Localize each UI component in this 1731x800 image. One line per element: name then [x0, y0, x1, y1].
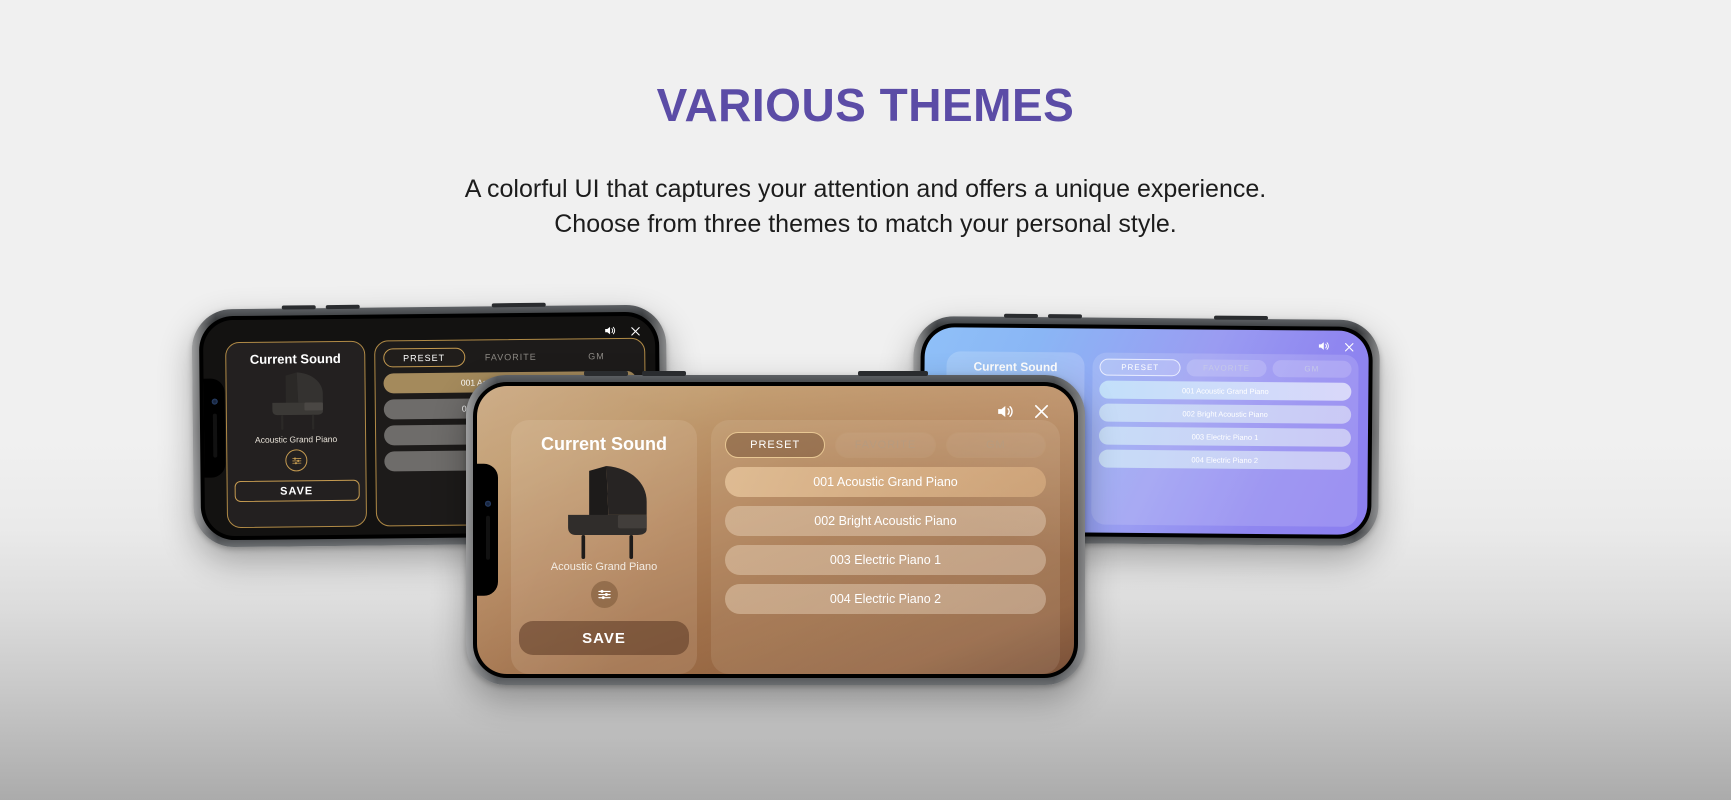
current-sound-label: Current Sound	[250, 351, 341, 367]
window-controls	[995, 402, 1050, 426]
front-camera-icon	[485, 501, 491, 507]
list-item[interactable]: 002 Bright Acoustic Piano	[1099, 404, 1351, 424]
phone-button-power[interactable]	[1214, 316, 1268, 320]
phone-screen-brown: Current Sound Acoustic Grand Piano	[477, 386, 1074, 674]
current-sound-panel: Current Sound Acoustic Grand Piano	[225, 341, 367, 528]
close-icon[interactable]	[630, 324, 641, 342]
tab-bar: PRESET FAVORITE GM	[383, 346, 636, 368]
grand-piano-icon	[547, 465, 662, 561]
phone-button-volume-down[interactable]	[326, 305, 360, 309]
speaker-icon[interactable]	[995, 402, 1014, 426]
phone-bezel: Current Sound Acoustic Grand Piano	[473, 382, 1078, 678]
section-header: VARIOUS THEMES A colorful UI that captur…	[0, 78, 1731, 242]
app-content-brown: Current Sound Acoustic Grand Piano	[477, 386, 1074, 674]
tab-gm[interactable]: GM	[557, 346, 637, 366]
equalizer-icon[interactable]	[591, 581, 618, 608]
list-item[interactable]: 004 Electric Piano 2	[1099, 450, 1351, 470]
phone-button-power[interactable]	[858, 371, 928, 376]
close-icon[interactable]	[1344, 340, 1355, 358]
phone-button-volume-up[interactable]	[1004, 314, 1038, 318]
list-item[interactable]: 001 Acoustic Grand Piano	[725, 467, 1046, 497]
phone-notch	[477, 464, 498, 596]
window-controls	[603, 324, 641, 342]
phone-notch	[203, 378, 225, 478]
preset-list[interactable]: 001 Acoustic Grand Piano 002 Bright Acou…	[1099, 381, 1352, 470]
front-camera-icon	[211, 399, 217, 405]
tab-bar: PRESET FAVORITE GM	[725, 432, 1046, 458]
preset-list[interactable]: 001 Acoustic Grand Piano 002 Bright Acou…	[725, 467, 1046, 614]
page-subtitle: A colorful UI that captures your attenti…	[0, 172, 1731, 242]
current-sound-label: Current Sound	[541, 434, 667, 455]
close-icon[interactable]	[1033, 403, 1050, 425]
earpiece-speaker-icon	[212, 414, 216, 458]
subtitle-line-1: A colorful UI that captures your attenti…	[465, 175, 1266, 203]
window-controls	[1317, 339, 1355, 357]
speaker-icon[interactable]	[1317, 339, 1330, 357]
tab-bar: PRESET FAVORITE GM	[1099, 359, 1351, 378]
phone-button-volume-down[interactable]	[1048, 314, 1082, 318]
save-button[interactable]: SAVE	[519, 621, 689, 655]
list-item[interactable]: 003 Electric Piano 1	[1099, 427, 1351, 447]
phone-button-volume-down[interactable]	[642, 371, 686, 376]
preset-browser-panel: PRESET FAVORITE GM 001 Acoustic Grand Pi…	[1091, 353, 1358, 527]
phone-button-power[interactable]	[492, 303, 546, 308]
tab-gm[interactable]: GM	[946, 432, 1046, 458]
phone-button-volume-up[interactable]	[282, 305, 316, 309]
tab-gm[interactable]: GM	[1272, 360, 1351, 378]
phone-button-volume-up[interactable]	[584, 371, 628, 376]
list-item[interactable]: 003 Electric Piano 1	[725, 545, 1046, 575]
save-button[interactable]: SAVE	[234, 480, 359, 502]
tab-preset[interactable]: PRESET	[725, 432, 825, 458]
earpiece-speaker-icon	[486, 516, 490, 560]
tab-favorite[interactable]: FAVORITE	[835, 432, 935, 458]
grand-piano-icon	[258, 370, 333, 433]
speaker-icon[interactable]	[603, 324, 616, 342]
current-sound-name: Acoustic Grand Piano	[551, 561, 657, 573]
tab-favorite[interactable]: FAVORITE	[1187, 359, 1266, 377]
page-title: VARIOUS THEMES	[0, 78, 1731, 132]
preset-browser-panel: PRESET FAVORITE GM 001 Acoustic Grand Pi…	[711, 420, 1060, 674]
subtitle-line-2: Choose from three themes to match your p…	[0, 207, 1731, 242]
equalizer-icon[interactable]	[285, 449, 307, 471]
phone-mockup-brown-theme: Current Sound Acoustic Grand Piano	[466, 375, 1085, 685]
current-sound-label: Current Sound	[973, 359, 1057, 374]
tab-preset[interactable]: PRESET	[1099, 359, 1180, 377]
tab-favorite[interactable]: FAVORITE	[471, 347, 551, 367]
list-item[interactable]: 002 Bright Acoustic Piano	[725, 506, 1046, 536]
list-item[interactable]: 001 Acoustic Grand Piano	[1099, 381, 1351, 401]
current-sound-panel: Current Sound Acoustic Grand Piano	[511, 420, 697, 674]
tab-preset[interactable]: PRESET	[383, 348, 465, 368]
list-item[interactable]: 004 Electric Piano 2	[725, 584, 1046, 614]
current-sound-name: Acoustic Grand Piano	[255, 434, 337, 445]
